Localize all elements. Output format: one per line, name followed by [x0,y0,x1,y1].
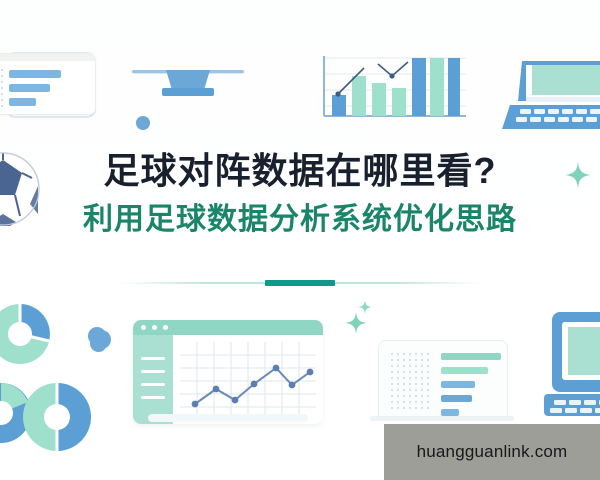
window-dot-icon [152,325,157,330]
sparkle-icon [565,162,591,188]
divider-track [120,282,480,284]
monitor-icon [132,50,244,106]
page-subtitle: 利用足球数据分析系统优化思路 [0,203,600,238]
top-bar-chart [316,52,468,124]
sidebar-line [141,370,165,373]
decor-dot [88,327,106,345]
sparkle-icon [345,312,367,334]
bar-item [441,381,475,388]
headline-divider [0,282,600,284]
divider-core [265,280,335,286]
sidebar-line [141,357,165,360]
decor-strip [148,414,308,422]
bottom-right-hbar-chart [378,340,508,420]
dot-grid-texture [389,351,433,409]
card-base-shadow [370,416,514,421]
card-bars-top-left [0,53,96,115]
donut-chart-a [0,300,54,368]
window-dot-icon [141,325,146,330]
bar-item [441,409,459,416]
soccer-ball-icon [0,152,40,226]
page-title: 足球对阵数据在哪里看? [0,150,600,191]
browser-line-chart [180,342,316,420]
sidebar-line [141,396,165,399]
sparkle-icon [358,300,372,314]
laptop-icon [500,55,600,133]
browser-titlebar [133,320,323,335]
bar-item [9,84,50,92]
window-dot-icon [163,325,168,330]
laptop-icon [540,308,600,420]
dot-grid-texture [0,67,3,107]
headline-block: 足球对阵数据在哪里看? 利用足球数据分析系统优化思路 [0,150,600,238]
donut-chart-b [18,378,96,456]
poster-canvas: 足球对阵数据在哪里看? 利用足球数据分析系统优化思路 [0,0,600,480]
bar-item [9,70,61,78]
sidebar-line [141,383,165,386]
watermark-banner: huangguanlink.com [384,424,600,480]
bar-item [441,395,472,402]
decor-dot [136,116,150,130]
browser-window-card [133,320,323,424]
bar-item [441,367,488,374]
browser-sidebar [133,335,173,424]
card-titlebar [0,54,95,61]
watermark-text: huangguanlink.com [417,442,568,462]
bar-item [9,98,36,106]
bar-item [441,353,501,360]
